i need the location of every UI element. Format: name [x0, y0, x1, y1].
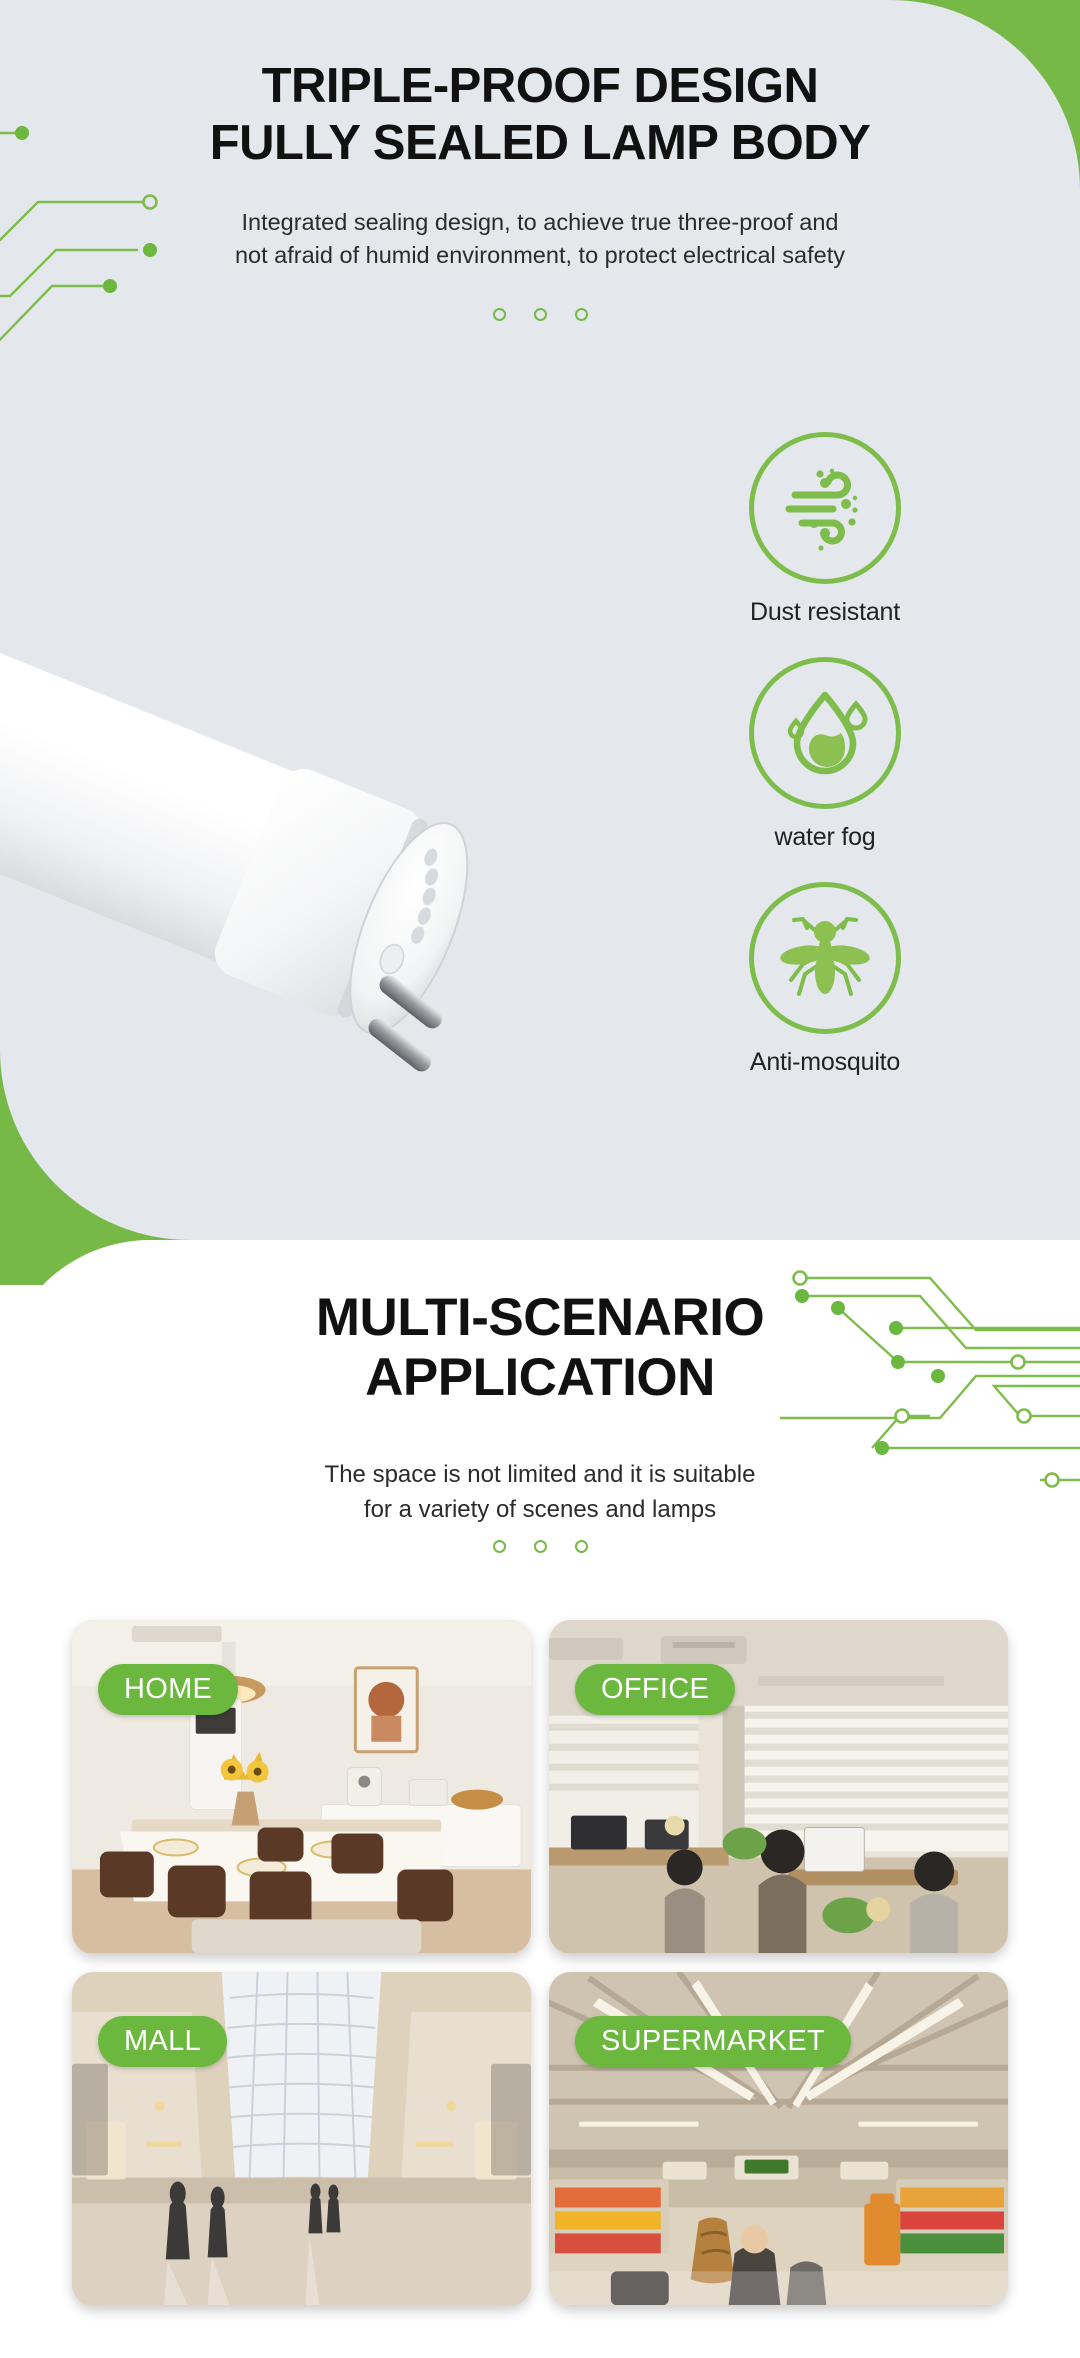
feature-label: Dust resistant: [670, 598, 980, 627]
triple-proof-panel: TRIPLE-PROOF DESIGN FULLY SEALED LAMP BO…: [0, 0, 1080, 1240]
section-title: MULTI-SCENARIO APPLICATION: [0, 1288, 1080, 1409]
feature-water-fog: water fog: [670, 657, 980, 852]
feature-label: Anti-mosquito: [670, 1048, 980, 1077]
application-card-grid: HOME: [72, 1620, 1008, 2306]
feature-dust-resistant: Dust resistant: [670, 432, 980, 627]
card-badge: HOME: [98, 1664, 238, 1715]
application-card-mall[interactable]: MALL: [72, 1972, 531, 2306]
card-badge: SUPERMARKET: [575, 2016, 851, 2067]
feature-icon-ring: [749, 657, 901, 809]
heading-line-2: FULLY SEALED LAMP BODY: [0, 115, 1080, 172]
dot-3: [575, 1540, 588, 1553]
dot-1: [493, 1540, 506, 1553]
page-title: TRIPLE-PROOF DESIGN FULLY SEALED LAMP BO…: [0, 58, 1080, 173]
water-droplet-icon: [775, 683, 875, 783]
application-card-office[interactable]: OFFICE: [549, 1620, 1008, 1954]
heading-line-1: TRIPLE-PROOF DESIGN: [262, 59, 819, 113]
triple-proof-section: TRIPLE-PROOF DESIGN FULLY SEALED LAMP BO…: [0, 0, 1080, 1285]
dot-1: [493, 308, 506, 321]
subtitle-line-1: Integrated sealing design, to achieve tr…: [0, 206, 1080, 239]
decorative-dots: [0, 1540, 1080, 1553]
feature-icon-ring: [749, 882, 901, 1034]
dot-2: [534, 1540, 547, 1553]
mosquito-icon: [773, 906, 877, 1010]
application-card-home[interactable]: HOME: [72, 1620, 531, 1954]
led-tube-lamp-image: [0, 560, 660, 1100]
subtitle-line-2: for a variety of scenes and lamps: [0, 1493, 1080, 1528]
feature-anti-mosquito: Anti-mosquito: [670, 882, 980, 1077]
section-subtitle: The space is not limited and it is suita…: [0, 1458, 1080, 1528]
dust-wind-icon: [775, 458, 875, 558]
dot-3: [575, 308, 588, 321]
card-badge: OFFICE: [575, 1664, 735, 1715]
multi-scenario-section: MULTI-SCENARIO APPLICATION The space is …: [0, 1240, 1080, 2358]
feature-list: Dust resistant water fog: [670, 432, 980, 1107]
application-card-supermarket[interactable]: SUPERMARKET: [549, 1972, 1008, 2306]
card-badge: MALL: [98, 2016, 227, 2067]
section-subtitle: Integrated sealing design, to achieve tr…: [0, 206, 1080, 273]
dot-2: [534, 308, 547, 321]
feature-icon-ring: [749, 432, 901, 584]
feature-label: water fog: [670, 823, 980, 852]
heading-line-2: APPLICATION: [0, 1348, 1080, 1408]
heading-line-1: MULTI-SCENARIO: [316, 1288, 764, 1347]
subtitle-line-1: The space is not limited and it is suita…: [0, 1458, 1080, 1493]
subtitle-line-2: not afraid of humid environment, to prot…: [0, 239, 1080, 272]
decorative-dots: [0, 308, 1080, 321]
